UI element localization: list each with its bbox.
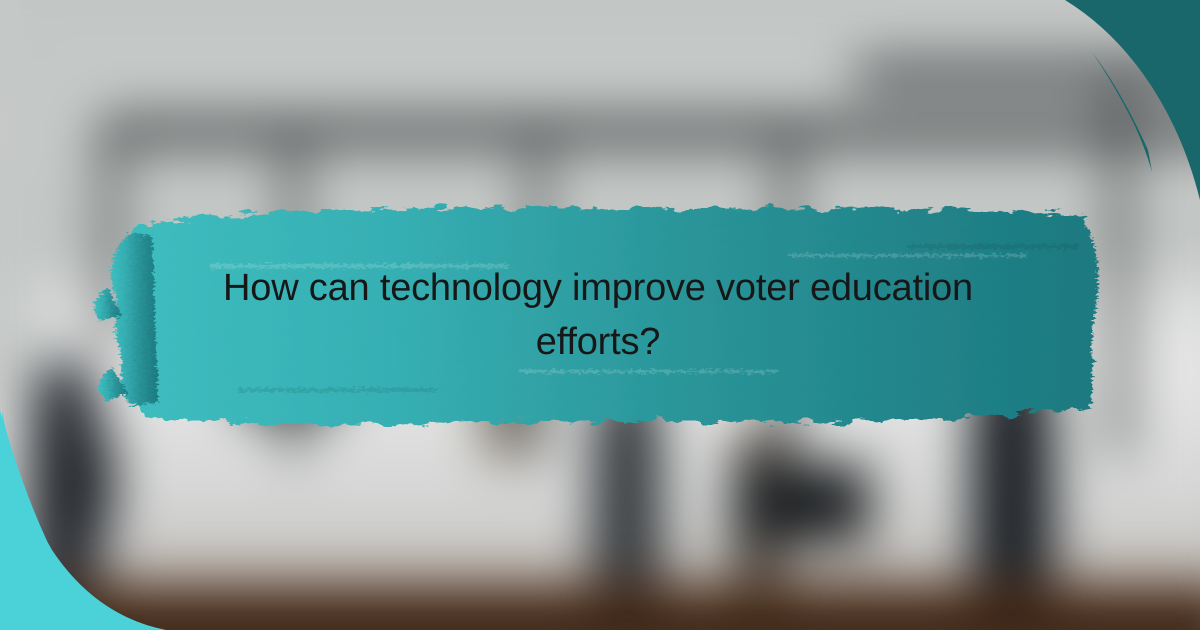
background-left-wall bbox=[0, 0, 37, 400]
railing-beam-upper bbox=[856, 63, 1200, 86]
background-object bbox=[734, 464, 868, 542]
brush-stroke-banner: How can technology improve voter educati… bbox=[88, 192, 1108, 440]
page-title: How can technology improve voter educati… bbox=[88, 192, 1108, 440]
background-floor bbox=[0, 585, 1200, 630]
railing-beam bbox=[101, 120, 1200, 144]
railing-post bbox=[1112, 74, 1127, 457]
background-object bbox=[50, 436, 114, 528]
question-card: How can technology improve voter educati… bbox=[0, 0, 1200, 630]
